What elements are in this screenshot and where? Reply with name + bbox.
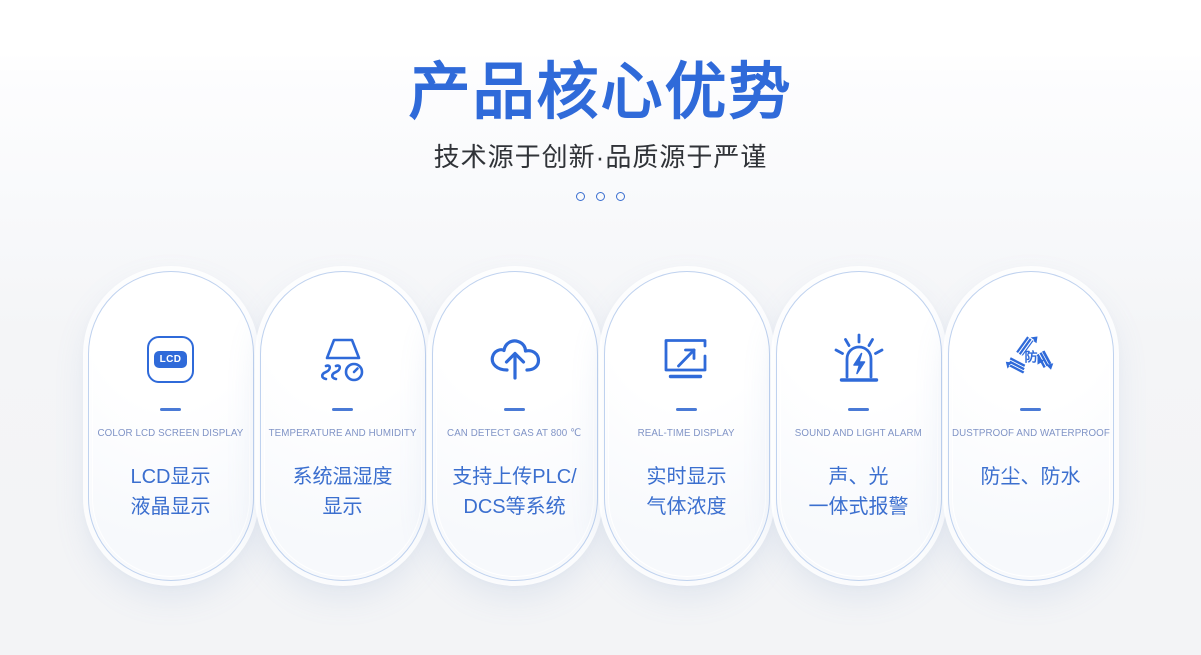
card-english-label: CAN DETECT GAS AT 800 ℃ — [447, 427, 581, 440]
dot-icon — [616, 192, 625, 201]
recycle-protection-icon: 防 — [1001, 316, 1061, 402]
card-chinese-label: 防尘、防水 — [981, 462, 1081, 492]
dot-icon — [576, 192, 585, 201]
feature-card-sound-light-alarm[interactable]: SOUND AND LIGHT ALARM 声、光 一体式报警 — [776, 271, 942, 581]
dot-icon — [596, 192, 605, 201]
page-subtitle: 技术源于创新·品质源于严谨 — [0, 130, 1201, 174]
card-chinese-label: 实时显示 气体浓度 — [647, 462, 727, 522]
card-english-label: REAL-TIME DISPLAY — [638, 427, 735, 440]
card-chinese-label: LCD显示 液晶显示 — [130, 462, 210, 522]
lcd-badge-label: LCD — [154, 351, 187, 368]
card-divider — [160, 408, 181, 411]
page-header: 产品核心优势 技术源于创新·品质源于严谨 — [0, 0, 1201, 201]
monitor-cursor-icon — [658, 316, 716, 402]
decorative-dots — [0, 174, 1201, 201]
card-divider — [332, 408, 353, 411]
page-title: 产品核心优势 — [0, 0, 1201, 130]
card-english-label: TEMPERATURE AND HUMIDITY — [268, 427, 416, 440]
temperature-humidity-icon — [315, 316, 371, 402]
feature-card-list: LCD COLOR LCD SCREEN DISPLAY LCD显示 液晶显示 … — [0, 271, 1201, 581]
card-english-label: COLOR LCD SCREEN DISPLAY — [98, 427, 244, 440]
feature-card-realtime-display[interactable]: REAL-TIME DISPLAY 实时显示 气体浓度 — [604, 271, 770, 581]
lcd-screen-icon: LCD — [147, 316, 194, 402]
card-chinese-label: 声、光 一体式报警 — [809, 462, 909, 522]
alarm-beacon-icon — [830, 316, 888, 402]
card-chinese-label: 支持上传PLC/ DCS等系统 — [452, 462, 576, 522]
recycle-icon-center-label: 防 — [1024, 350, 1037, 365]
feature-card-lcd-display[interactable]: LCD COLOR LCD SCREEN DISPLAY LCD显示 液晶显示 — [88, 271, 254, 581]
card-english-label: SOUND AND LIGHT ALARM — [795, 427, 922, 440]
product-advantages-page: 产品核心优势 技术源于创新·品质源于严谨 LCD COLOR LCD SCREE… — [0, 0, 1201, 655]
card-divider — [504, 408, 525, 411]
card-english-label: DUSTPROOF AND WATERPROOF — [952, 427, 1110, 440]
card-divider — [848, 408, 869, 411]
card-divider — [676, 408, 697, 411]
card-divider — [1020, 408, 1041, 411]
feature-card-temperature-humidity[interactable]: TEMPERATURE AND HUMIDITY 系统温湿度 显示 — [260, 271, 426, 581]
feature-card-dustproof-waterproof[interactable]: 防 DUSTPROOF AND WATERPROOF 防尘、防水 — [948, 271, 1114, 581]
card-chinese-label: 系统温湿度 显示 — [293, 462, 393, 522]
cloud-upload-icon — [485, 316, 545, 402]
feature-card-cloud-upload[interactable]: CAN DETECT GAS AT 800 ℃ 支持上传PLC/ DCS等系统 — [432, 271, 598, 581]
